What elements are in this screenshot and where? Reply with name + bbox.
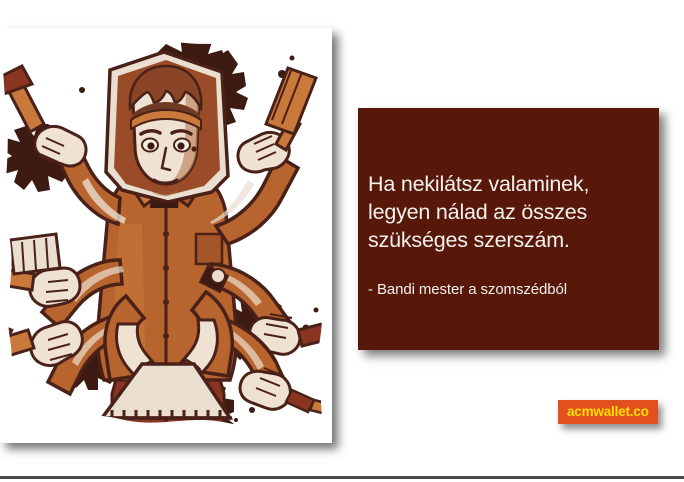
- quote-attribution: - Bandi mester a szomszédból: [368, 280, 639, 300]
- figure-head: [106, 52, 228, 202]
- illustration-card: [0, 28, 332, 443]
- bottom-divider: [0, 476, 684, 479]
- brand-badge[interactable]: acmwallet.co: [558, 400, 658, 424]
- quote-panel: Ha nekilátsz valaminek, legyen nálad az …: [358, 108, 659, 350]
- multi-armed-handyman-illustration: [0, 28, 332, 443]
- quote-text: Ha nekilátsz valaminek, legyen nálad az …: [368, 170, 639, 254]
